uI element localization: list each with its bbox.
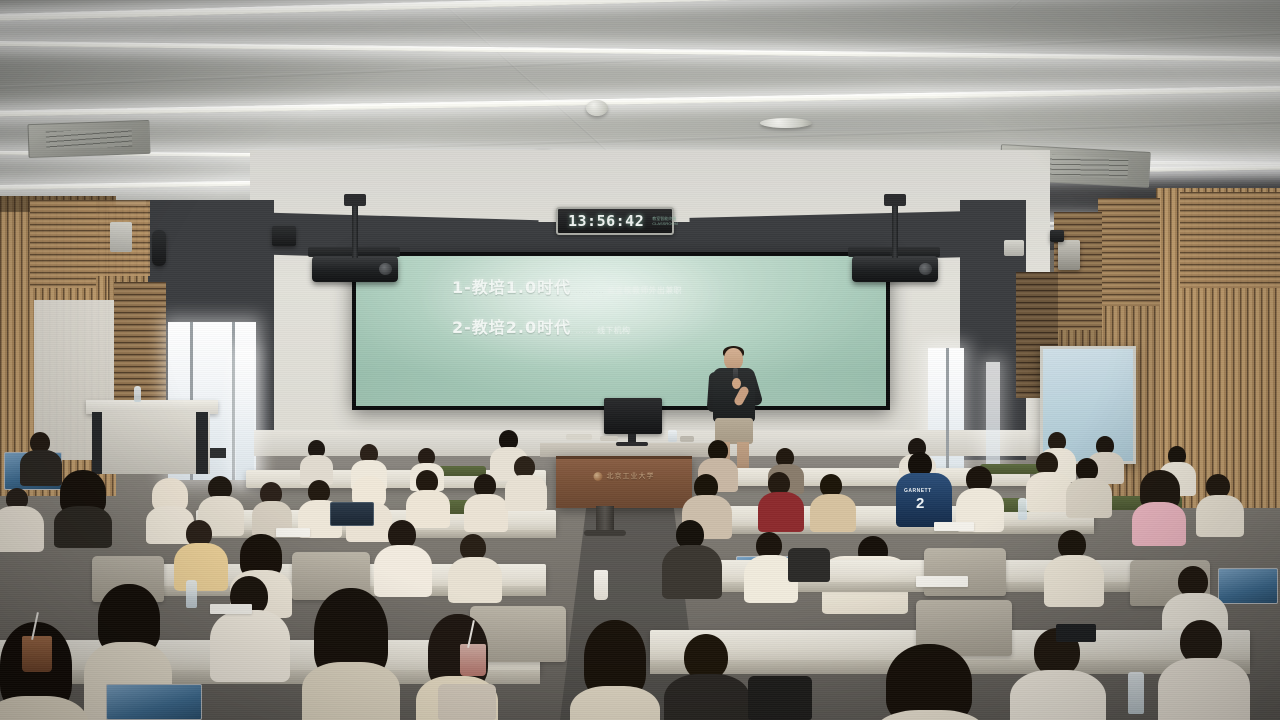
projector-left-body [312,256,398,282]
slide-line-2: 2-教培2.0时代 …… 线下机构 [452,314,682,338]
desk-bottle [668,430,677,442]
desk-clutter-mid [600,436,618,441]
presenter-head [724,348,743,370]
student-body [20,450,62,486]
paper-r2-a [276,528,310,537]
projector-left-pole [352,200,358,258]
wall-speaker-right-dark [1058,240,1080,270]
projector-right-pole [892,200,898,258]
window-right-mullion [946,348,949,480]
student-body [1158,658,1250,720]
desk-clutter-left [566,434,592,440]
student-body [464,494,508,532]
student-body [302,662,400,720]
student-body [174,543,228,591]
smoke-detector-1 [586,100,608,116]
presenter-hand [732,378,741,389]
backpack-front [748,676,812,720]
projector-right-mount [884,194,906,206]
projection-screen: 1-教培1.0时代 ……… 公立校教师外出兼职 2-教培2.0时代 …… 线下机… [352,252,890,410]
student-body [406,490,450,528]
bottle-front-right [1128,672,1144,714]
laptop-front-left [106,684,202,720]
projector-right [852,256,938,282]
side-counter-body [92,412,210,474]
projection-screen-surface: 1-教培1.0时代 ……… 公立校教师外出兼职 2-教培2.0时代 …… 线下机… [356,256,886,406]
student-body [505,475,547,511]
student-body [570,686,660,720]
lectern-university-name: 北京工业大学 [607,471,655,481]
desk-clutter-right [680,436,694,442]
student-body [1196,495,1244,537]
student-body [810,494,856,532]
paper-r2-b [934,522,974,531]
bottle-on-counter [134,386,141,402]
lecture-hall-photo: 13:56:42 教室智能终端 CLASSROOM 1-教培1.0时代 ……… … [0,0,1280,720]
student-body [1066,478,1112,518]
ceiling-light-disc [760,118,812,128]
wall-speaker-right-light [1004,240,1024,256]
paper-r3-a [916,576,968,587]
student-hair-long [886,644,972,720]
student-body [448,557,502,603]
presenter-leg-right [737,442,749,468]
student-body [662,545,722,599]
bottle-r2-a [1018,498,1027,520]
projector-left [312,256,398,282]
desk-row-2-right-edge [694,526,1094,534]
cup-r3-a [594,570,608,600]
lectern-foot [584,530,626,536]
wall-speaker-left-light [110,222,132,252]
slide-line-2-subtitle: 线下机构 [597,325,630,336]
projector-right-body [852,256,938,282]
drink-cup-mid [460,644,486,676]
laptop-r2-c [1218,568,1278,604]
window-right-slot [986,362,1000,472]
side-counter-edge-right [196,412,208,474]
classroom-clock: 13:56:42 教室智能终端 CLASSROOM [556,207,674,235]
jersey-name-text: GARNETT [904,488,932,494]
wood-slat-panel-right-h2 [1098,198,1160,306]
slide-line-1-dots: ……… [575,285,605,295]
lectern-branding: 北京工业大学 [594,471,655,481]
paper-r4-a [210,604,252,614]
wall-speaker-left-dark [152,230,166,266]
student-body [1010,670,1106,720]
desk-monitor [604,398,662,434]
student-body [54,506,112,548]
clock-subtext: 教室智能终端 CLASSROOM [652,216,678,226]
seat-r3-c [924,548,1006,596]
university-seal-icon [594,472,603,481]
laptop-r2-a [330,502,374,526]
ceiling-vent-left [27,120,150,158]
lectern-pedestal [596,506,614,532]
slide-line-1-title: 1-教培1.0时代 [452,274,571,298]
student-body [664,674,750,720]
student-body [210,610,290,682]
jersey-number: 2 [916,496,924,511]
projector-left-mount [344,194,366,206]
backpack-r3 [788,548,830,582]
wood-slat-panel-right-h [1180,192,1280,288]
student-body [1044,555,1104,607]
slide-content: 1-教培1.0时代 ……… 公立校教师外出兼职 2-教培2.0时代 …… 线下机… [452,274,682,338]
clock-subtext-line2: CLASSROOM [652,221,678,226]
student-body [758,492,804,532]
slide-line-2-title: 2-教培2.0时代 [452,314,571,338]
side-counter-edge-left [92,412,102,474]
slide-line-1: 1-教培1.0时代 ……… 公立校教师外出兼职 [452,274,682,298]
bottle-r3-a [186,580,197,608]
phone-front-right [1056,624,1096,642]
desk-monitor-foot [616,442,648,446]
window-left-slot [236,350,254,480]
student-body [1132,502,1186,546]
lectern: 北京工业大学 [556,456,692,508]
window-left-mullion-2 [232,322,235,480]
student-body [0,506,44,552]
clock-time: 13:56:42 [568,212,644,230]
student-body [374,545,432,597]
slide-line-1-subtitle: 公立校教师外出兼职 [607,285,682,296]
wall-bracket-right [1050,230,1064,242]
wall-speaker-left-b [272,226,296,246]
drink-cup-left [22,636,52,672]
bag-front-mid [438,684,496,720]
slide-line-2-dots: …… [575,325,595,335]
